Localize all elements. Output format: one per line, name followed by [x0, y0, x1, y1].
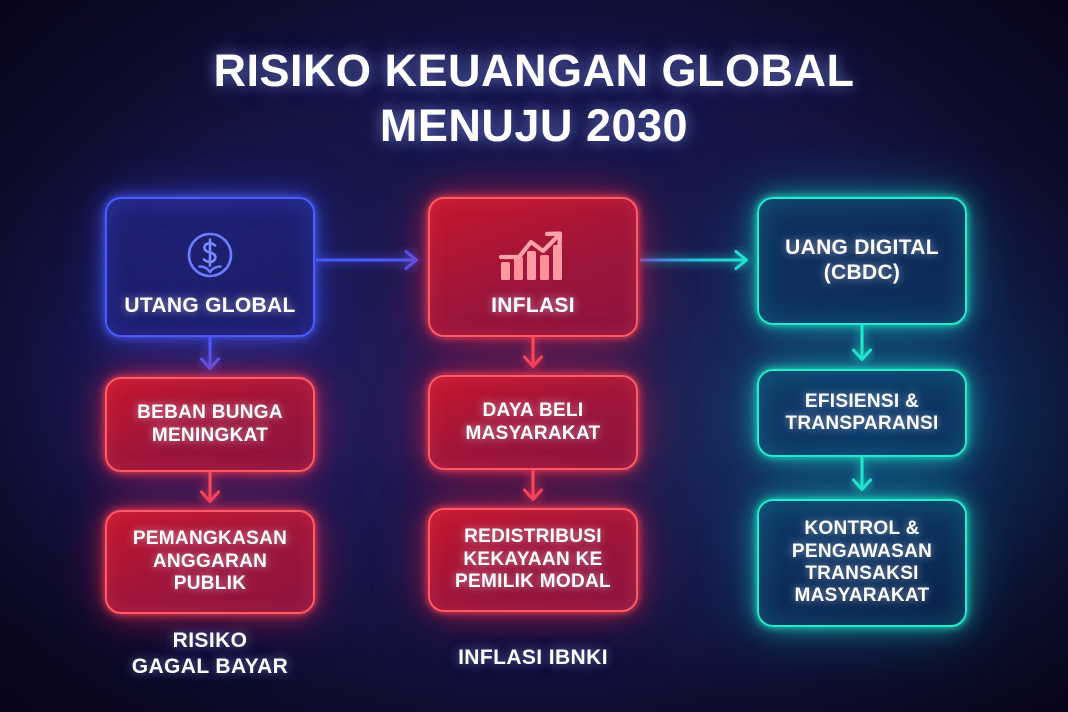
caption-inflasi-ibnki: INFLASI IBNKI — [428, 645, 638, 671]
column-inflation: INFLASI DAYA BELI MASYARAKAT REDISTRIBUS… — [428, 197, 638, 612]
node-utang-global[interactable]: UTANG GLOBAL — [105, 197, 315, 337]
node-label: INFLASI — [491, 294, 575, 319]
caption-risiko-gagal-bayar: RISIKO GAGAL BAYAR — [105, 628, 315, 680]
page-title: RISIKO KEUANGAN GLOBAL MENUJU 2030 — [0, 44, 1068, 154]
node-daya-beli[interactable]: DAYA BELI MASYARAKAT — [428, 375, 638, 470]
node-label: EFISIENSI & TRANSPARANSI — [785, 391, 938, 436]
node-redistribusi-kekayaan[interactable]: REDISTRIBUSI KEKAYAAN KE PEMILIK MODAL — [428, 508, 638, 612]
node-label: UTANG GLOBAL — [124, 294, 295, 319]
arrow-down-icon — [428, 337, 638, 375]
node-beban-bunga[interactable]: BEBAN BUNGA MENINGKAT — [105, 377, 315, 472]
node-kontrol-pengawasan[interactable]: KONTROL & PENGAWASAN TRANSAKSI MASYARAKA… — [757, 499, 967, 627]
column-debt: UTANG GLOBAL BEBAN BUNGA MENINGKAT PEMAN… — [105, 197, 315, 614]
arrow-down-icon — [757, 457, 967, 499]
node-label: UANG DIGITAL (CBDC) — [785, 236, 939, 286]
arrow-down-icon — [105, 337, 315, 377]
dollar-circle-down-icon — [180, 219, 240, 294]
arrow-down-icon — [757, 325, 967, 369]
node-efisiensi-transparansi[interactable]: EFISIENSI & TRANSPARANSI — [757, 369, 967, 457]
node-label: REDISTRIBUSI KEKAYAAN KE PEMILIK MODAL — [455, 526, 611, 593]
node-inflasi[interactable]: INFLASI — [428, 197, 638, 337]
node-label: PEMANGKASAN ANGGARAN PUBLIK — [133, 528, 287, 595]
node-pemangkasan-anggaran[interactable]: PEMANGKASAN ANGGARAN PUBLIK — [105, 510, 315, 614]
infographic-canvas: RISIKO KEUANGAN GLOBAL MENUJU 2030 UTANG… — [0, 0, 1068, 712]
title-line-2: MENUJU 2030 — [0, 99, 1068, 154]
rising-bar-chart-arrow-icon — [497, 219, 569, 294]
node-label: KONTROL & PENGAWASAN TRANSAKSI MASYARAKA… — [792, 518, 932, 608]
arrow-down-icon — [105, 472, 315, 510]
node-label: DAYA BELI MASYARAKAT — [466, 400, 601, 445]
node-label: BEBAN BUNGA MENINGKAT — [137, 402, 283, 447]
arrow-right-icon-inflation-to-cbdc — [640, 246, 758, 279]
arrow-down-icon — [428, 470, 638, 508]
node-uang-digital[interactable]: UANG DIGITAL (CBDC) — [757, 197, 967, 325]
title-line-1: RISIKO KEUANGAN GLOBAL — [0, 44, 1068, 99]
arrow-right-icon-debt-to-inflation — [316, 246, 428, 279]
column-cbdc: UANG DIGITAL (CBDC) EFISIENSI & TRANSPAR… — [757, 197, 967, 627]
